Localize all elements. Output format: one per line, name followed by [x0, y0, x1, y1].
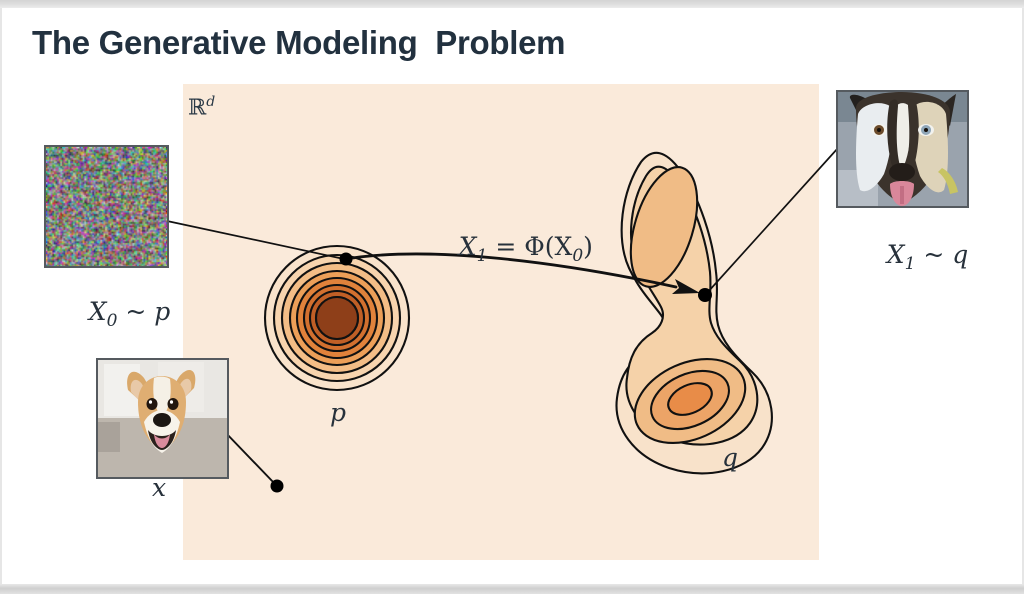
- corgi-photo: [96, 358, 229, 479]
- transport-map-equation: X1 = Φ(X0): [427, 203, 593, 295]
- slide-canvas: The Generative Modeling Problem ℝd: [0, 0, 1024, 594]
- noise-canvas: [46, 147, 167, 266]
- target-density-label: q: [722, 443, 738, 472]
- ambient-space-label: ℝd: [188, 94, 215, 120]
- ambient-space-region: [183, 84, 819, 560]
- window-top-bar: [0, 0, 1024, 8]
- source-sample-label: X0 ~ p: [57, 268, 170, 360]
- corgi-illustration: [98, 360, 227, 477]
- blackboard-r-glyph: ℝ: [188, 95, 206, 120]
- husky-photo: [836, 90, 969, 208]
- husky-illustration: [838, 92, 967, 206]
- dimension-exponent: d: [206, 94, 215, 110]
- source-density-label: p: [330, 398, 346, 427]
- window-bottom-bar: [0, 584, 1024, 594]
- target-sample-label: X1 ~ q: [855, 211, 968, 303]
- gaussian-noise-image: [44, 145, 169, 268]
- x-sample-label: x: [152, 473, 166, 502]
- page-title: The Generative Modeling Problem: [32, 24, 565, 62]
- slide-left-edge: [0, 8, 2, 584]
